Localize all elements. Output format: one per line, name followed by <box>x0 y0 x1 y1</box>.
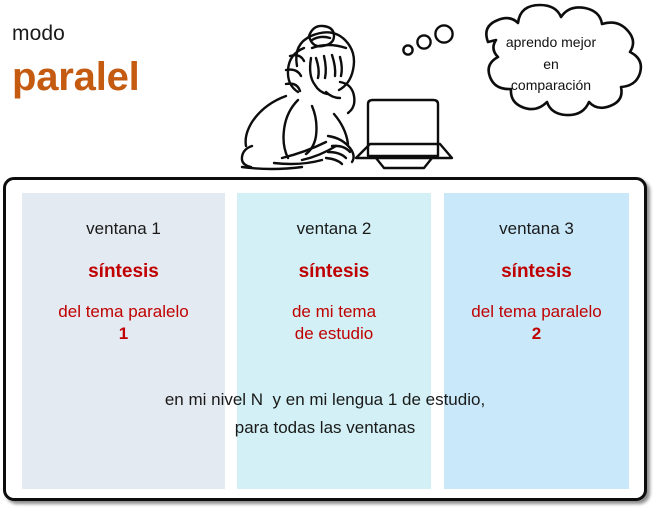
window-column-1-body: ventana 1 síntesis del tema paralelo 1 <box>22 193 225 345</box>
window-label-1: ventana 1 <box>22 219 225 239</box>
page-title: paralel <box>12 55 212 100</box>
topic-line2-2: de estudio <box>237 323 431 345</box>
title-block: modo paralel <box>12 22 212 100</box>
topic-text-3: del tema paralelo 2 <box>444 301 629 345</box>
synthesis-label-3: síntesis <box>444 261 629 284</box>
window-label-3: ventana 3 <box>444 219 629 239</box>
thought-bubble-text: aprendo mejor en comparación <box>466 32 636 97</box>
topic-line1-3: del tema paralelo <box>444 301 629 323</box>
window-column-1[interactable]: ventana 1 síntesis del tema paralelo 1 <box>22 193 225 489</box>
bubble-line-3: comparación <box>466 75 636 97</box>
topic-line2-3: 2 <box>444 323 629 345</box>
window-column-3[interactable]: ventana 3 síntesis del tema paralelo 2 <box>444 193 629 489</box>
synthesis-label-1: síntesis <box>22 261 225 284</box>
topic-line2-1: 1 <box>22 323 225 345</box>
topic-text-2: de mi tema de estudio <box>237 301 431 345</box>
bubble-line-1: aprendo mejor <box>466 32 636 54</box>
parallel-mode-panel: ventana 1 síntesis del tema paralelo 1 v… <box>3 177 647 501</box>
bubble-line-2: en <box>466 54 636 76</box>
student-at-laptop-illustration <box>216 0 456 176</box>
topic-line1-1: del tema paralelo <box>22 301 225 323</box>
header-area: modo paralel <box>0 0 657 177</box>
window-label-2: ventana 2 <box>237 219 431 239</box>
window-column-3-body: ventana 3 síntesis del tema paralelo 2 <box>444 193 629 345</box>
windows-columns: ventana 1 síntesis del tema paralelo 1 v… <box>6 180 644 498</box>
window-column-2[interactable]: ventana 2 síntesis de mi tema de estudio <box>237 193 431 489</box>
topic-text-1: del tema paralelo 1 <box>22 301 225 345</box>
topic-line1-2: de mi tema <box>237 301 431 323</box>
window-column-2-body: ventana 2 síntesis de mi tema de estudio <box>237 193 431 345</box>
synthesis-label-2: síntesis <box>237 261 431 284</box>
page-title-prefix: modo <box>12 22 212 45</box>
